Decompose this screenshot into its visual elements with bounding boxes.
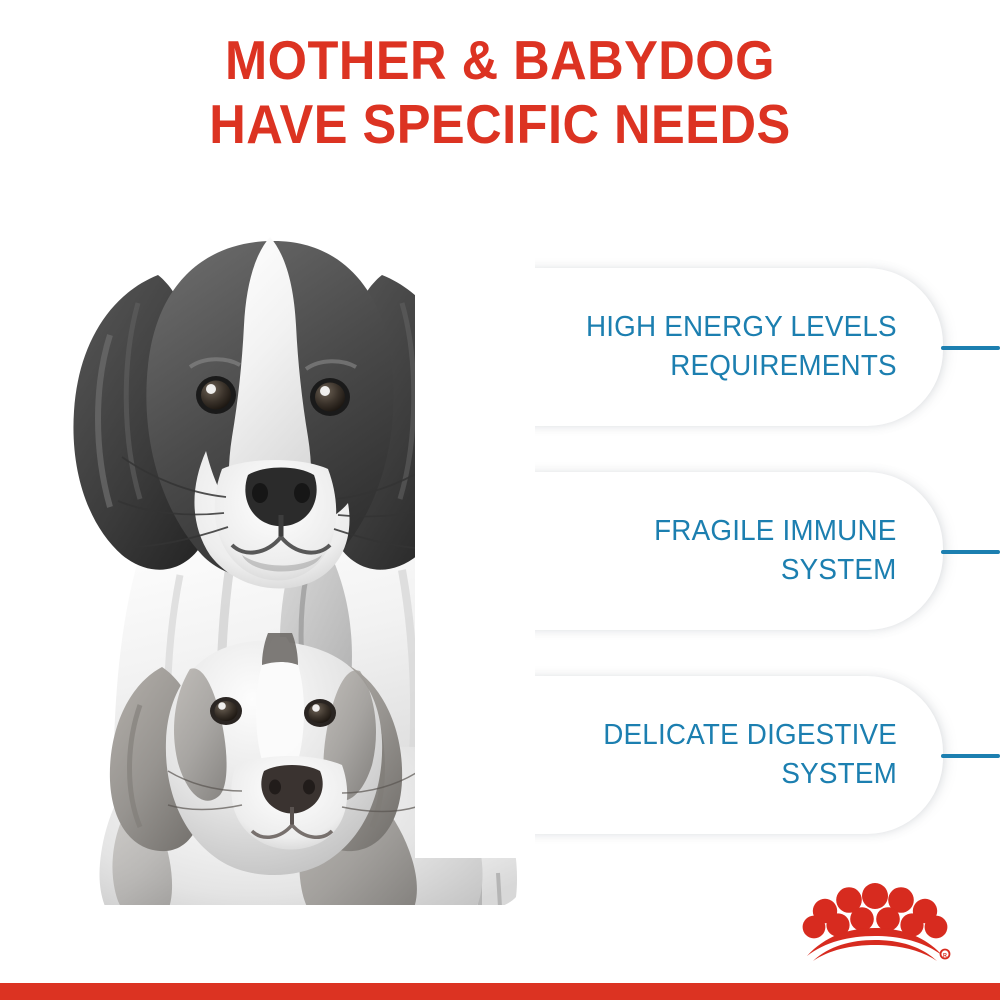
- connector-line-1: [941, 346, 1000, 350]
- callout-high-energy-levels-requirements[interactable]: HIGH ENERGY LEVELS REQUIREMENTS: [455, 268, 943, 426]
- registered-trademark-icon: R: [940, 949, 951, 960]
- callout-line-1: HIGH ENERGY LEVELS: [586, 308, 897, 347]
- callout-line-2: SYSTEM: [603, 755, 897, 794]
- callout-fragile-immune-system[interactable]: FRAGILE IMMUNE SYSTEM: [455, 472, 943, 630]
- page-title: MOTHER & BABYDOG HAVE SPECIFIC NEEDS: [40, 28, 960, 156]
- callout-text: HIGH ENERGY LEVELS REQUIREMENTS: [586, 308, 897, 386]
- product-benefit-panel: MOTHER & BABYDOG HAVE SPECIFIC NEEDS: [0, 0, 1000, 1000]
- callout-text: FRAGILE IMMUNE SYSTEM: [655, 512, 897, 590]
- svg-text:R: R: [943, 953, 947, 959]
- royal-canin-crown-icon: R: [795, 880, 955, 965]
- page-title-line-2: HAVE SPECIFIC NEEDS: [40, 92, 960, 156]
- callout-line-2: SYSTEM: [655, 551, 897, 590]
- callout-text: DELICATE DIGESTIVE SYSTEM: [603, 716, 897, 794]
- footer-accent-bar: [0, 983, 1000, 1000]
- connector-line-2: [941, 550, 1000, 554]
- callout-delicate-digestive-system[interactable]: DELICATE DIGESTIVE SYSTEM: [455, 676, 943, 834]
- callout-line-2: REQUIREMENTS: [586, 347, 897, 386]
- page-title-line-1: MOTHER & BABYDOG: [40, 28, 960, 92]
- connector-line-3: [941, 754, 1000, 758]
- callout-line-1: FRAGILE IMMUNE: [655, 512, 897, 551]
- callout-line-1: DELICATE DIGESTIVE: [603, 716, 897, 755]
